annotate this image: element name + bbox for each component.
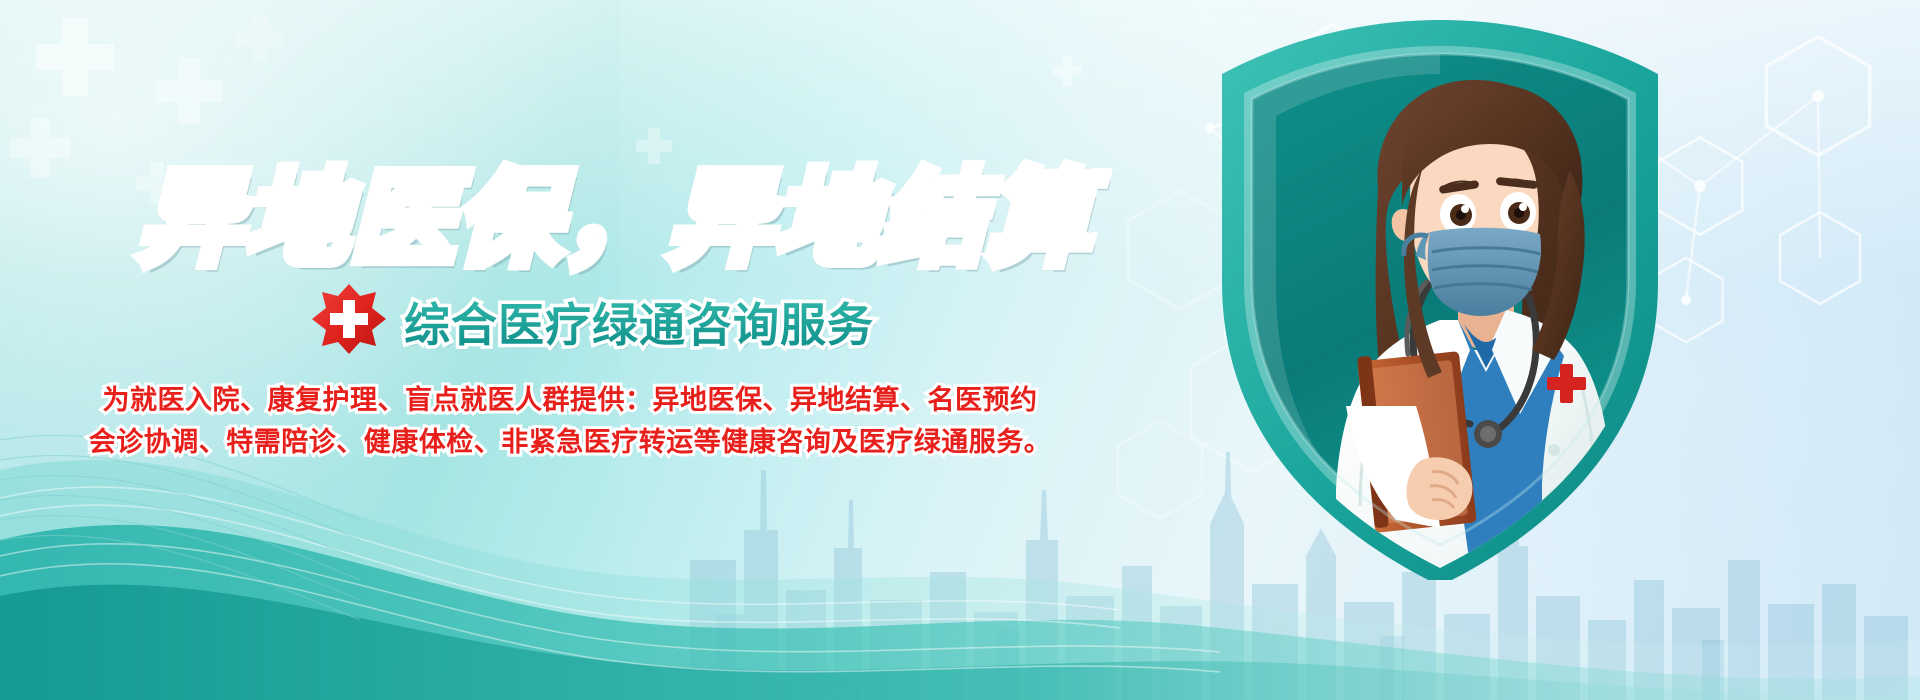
banner-description: 为就医入院、康复护理、盲点就医人群提供：异地医保、异地结算、名医预约 为就医入院…: [0, 378, 1140, 462]
description-line: 会诊协调、特需陪诊、健康体检、非紧急医疗转运等健康咨询及医疗绿通服务。 会诊协调…: [0, 420, 1140, 458]
banner-subtitle-wrap: 综合医疗绿通咨询服务 综合医疗绿通咨询服务: [404, 289, 874, 349]
banner-subtitle: 综合医疗绿通咨询服务: [404, 299, 874, 351]
banner-title: 异地医保，异地结算: [138, 168, 1092, 272]
healthcare-promo-banner: 异地医保，异地结算 异地医保，异地结算 综合医疗绿通咨询: [0, 0, 1920, 700]
headline-block: 异地医保，异地结算 异地医保，异地结算 综合医疗绿通咨询: [0, 0, 1150, 560]
red-medical-cross-icon: [310, 282, 388, 356]
description-line-2: 会诊协调、特需陪诊、健康体检、非紧急医疗转运等健康咨询及医疗绿通服务。: [89, 427, 1052, 457]
doctor-shield-illustration: [1140, 20, 1760, 580]
subtitle-row: 综合医疗绿通咨询服务 综合医疗绿通咨询服务: [310, 282, 874, 356]
description-line: 为就医入院、康复护理、盲点就医人群提供：异地医保、异地结算、名医预约 为就医入院…: [0, 378, 1140, 416]
description-line-1: 为就医入院、康复护理、盲点就医人群提供：异地医保、异地结算、名医预约: [103, 385, 1038, 415]
